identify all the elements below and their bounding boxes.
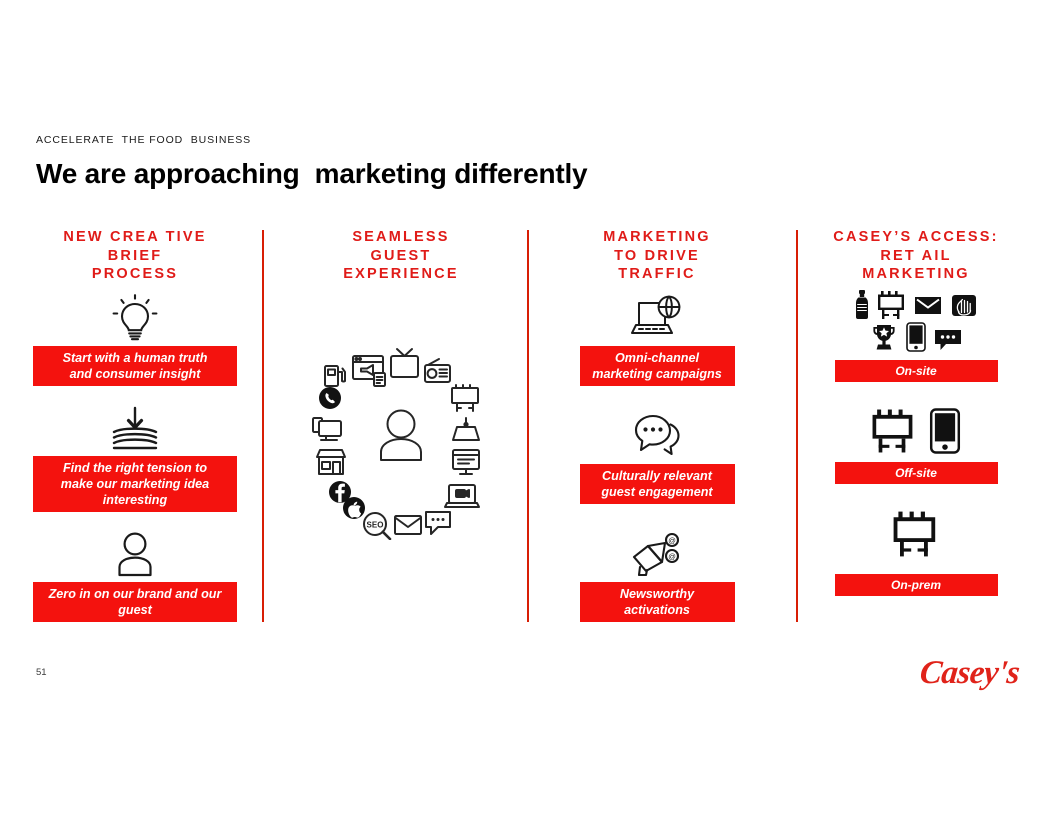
column-1-item-2: Find the right tension to make our marke…	[33, 400, 237, 512]
column-4-item-3-label: On-prem	[835, 574, 998, 596]
billboard-icon	[893, 510, 939, 558]
caseys-logo: Casey's	[918, 655, 1021, 692]
column-3-header: MARKETING TO DRIVE TRAFFIC	[542, 228, 772, 284]
column-seamless-guest-experience: SEAMLESS GUEST EXPERIENCE	[286, 228, 516, 540]
column-4-header: CASEY’S ACCESS: RET AIL MARKETING	[801, 228, 1031, 284]
billboard-icon	[871, 408, 917, 454]
column-marketing-to-drive-traffic: MARKETING TO DRIVE TRAFFIC Omni-channel …	[542, 228, 772, 622]
lightbulb-icon	[33, 290, 237, 346]
column-3-item-2: Culturally relevant guest engagement	[580, 408, 735, 504]
speech-bubble-icon	[934, 326, 962, 352]
laptop-globe-icon	[580, 290, 735, 346]
bottle-icon	[854, 290, 870, 320]
column-divider-1	[262, 230, 264, 622]
column-4-item-1: On-site	[801, 290, 1031, 382]
mobile-phone-icon	[906, 322, 926, 352]
column-1-item-3: Zero in on our brand and our guest	[33, 526, 237, 622]
column-4-item-3: On-prem	[801, 510, 1031, 596]
column-2-header: SEAMLESS GUEST EXPERIENCE	[286, 228, 516, 284]
column-1-item-1: Start with a human truth and consumer in…	[33, 290, 237, 386]
hand-clap-icon	[950, 290, 978, 320]
column-3-item-3: @ @ Newsworthy activations	[580, 526, 735, 622]
off-site-icons-row-1	[801, 408, 1031, 454]
columns-container: NEW CREA TIVE BRIEF PROCESS	[0, 228, 1056, 628]
tension-pressure-icon	[33, 400, 237, 456]
envelope-icon	[914, 290, 942, 320]
column-1-item-2-label: Find the right tension to make our marke…	[33, 456, 237, 512]
megaphone-icon: @ @	[580, 526, 735, 582]
trophy-icon	[870, 324, 898, 352]
on-site-icons-row-2	[801, 322, 1031, 352]
column-4-item-1-label: On-site	[835, 360, 998, 382]
column-new-creative-brief-process: NEW CREA TIVE BRIEF PROCESS	[20, 228, 250, 622]
person-icon	[33, 526, 237, 582]
column-1-item-3-label: Zero in on our brand and our guest	[33, 582, 237, 622]
column-1-item-1-label: Start with a human truth and consumer in…	[33, 346, 237, 386]
on-site-icons-row-1	[801, 290, 1031, 320]
column-3-item-2-label: Culturally relevant guest engagement	[580, 464, 735, 504]
column-4-item-2: Off-site	[801, 408, 1031, 484]
page-title: We are approaching marketing differently	[36, 158, 587, 190]
slide-eyebrow: ACCELERATE THE FOOD BUSINESS	[36, 134, 251, 146]
billboard-icon	[878, 290, 906, 320]
column-1-header: NEW CREA TIVE BRIEF PROCESS	[20, 228, 250, 284]
channel-ecosystem-cluster: SEO	[286, 340, 516, 540]
svg-text:@: @	[668, 536, 676, 545]
on-prem-icons-row-1	[801, 510, 1031, 558]
column-caseys-access-retail-marketing: CASEY’S ACCESS: RET AIL MARKETING	[801, 228, 1031, 596]
person-icon	[381, 410, 421, 460]
column-divider-3	[796, 230, 798, 622]
column-divider-2	[527, 230, 529, 622]
chat-bubbles-icon	[580, 408, 735, 464]
mobile-phone-icon	[929, 408, 961, 454]
column-3-item-1: Omni-channel marketing campaigns	[580, 290, 735, 386]
column-3-item-3-label: Newsworthy activations	[580, 582, 735, 622]
svg-text:@: @	[668, 552, 676, 561]
page-number: 51	[36, 667, 47, 678]
column-4-item-2-label: Off-site	[835, 462, 998, 484]
column-3-item-1-label: Omni-channel marketing campaigns	[580, 346, 735, 386]
svg-text:SEO: SEO	[367, 520, 384, 529]
